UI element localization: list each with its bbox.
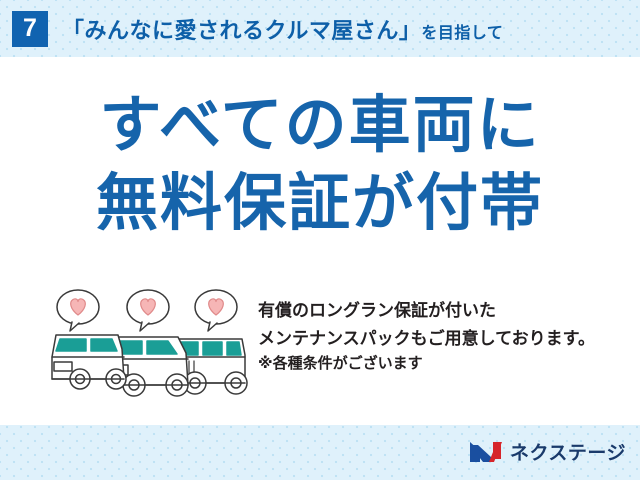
footer-bar: ネクステージ (0, 425, 640, 480)
header-bar: 7 「みんなに愛されるクルマ屋さん」 を目指して (0, 0, 640, 57)
body-copy-note: ※各種条件がございます (258, 352, 630, 376)
body-copy-line-1: 有償のロングラン保証が付いた (258, 297, 630, 325)
brand-logo: ネクステージ (469, 438, 626, 465)
lower-section: 有償のロングラン保証が付いた メンテナンスパックもご用意しております。 ※各種条… (0, 287, 640, 427)
body-copy: 有償のロングラン保証が付いた メンテナンスパックもご用意しております。 ※各種条… (258, 297, 630, 376)
nextage-n-logo-icon (469, 440, 503, 464)
speech-bubble-heart-2 (127, 290, 169, 331)
headline-line-2: 無料保証が付帯 (0, 173, 640, 235)
content-panel: すべての車両に 無料保証が付帯 (0, 57, 640, 425)
speech-bubble-heart-3 (195, 290, 237, 331)
header-title: 「みんなに愛されるクルマ屋さん」 を目指して (62, 13, 503, 45)
cars-illustration (46, 287, 251, 402)
headline: すべての車両に 無料保証が付帯 (0, 95, 640, 235)
poster-root: 7 「みんなに愛されるクルマ屋さん」 を目指して すべての車両に 無料保証が付帯 (0, 0, 640, 480)
header-title-suffix: を目指して (421, 19, 503, 43)
brand-name: ネクステージ (510, 438, 626, 465)
speech-bubble-heart-1 (57, 290, 99, 331)
car-kei-tall-wagon (52, 335, 126, 389)
cars-svg (46, 287, 251, 402)
header-title-quoted: 「みんなに愛されるクルマ屋さん」 (62, 13, 421, 45)
headline-line-1: すべての車両に (0, 95, 640, 157)
header-step-badge: 7 (12, 11, 48, 47)
body-copy-line-2: メンテナンスパックもご用意しております。 (258, 325, 630, 353)
